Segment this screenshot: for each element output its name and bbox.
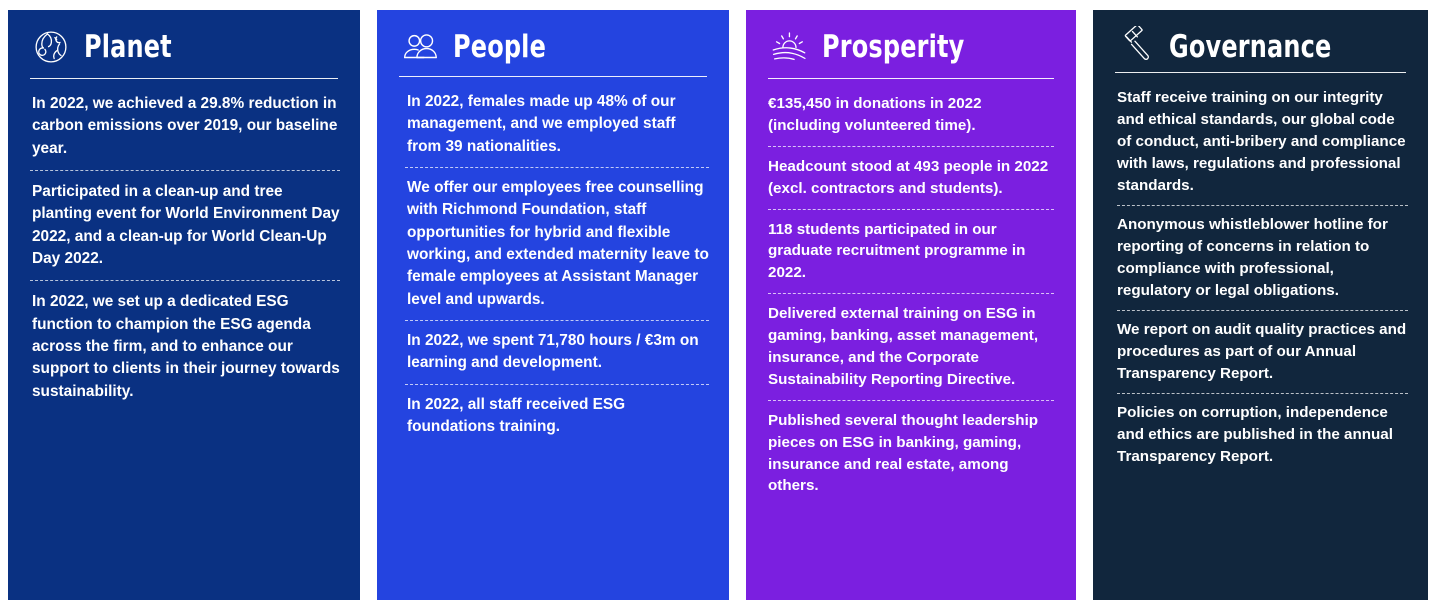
sunrise-field-icon <box>768 26 810 68</box>
stat-divider <box>768 400 1054 401</box>
header-rule-planet <box>30 78 338 79</box>
stat-item: Headcount stood at 493 people in 2022 (e… <box>762 156 1060 200</box>
stat-divider <box>768 209 1054 210</box>
card-title-governance: Governance <box>1169 32 1331 63</box>
card-header-governance: Governance <box>1109 26 1412 68</box>
stat-divider <box>405 384 709 385</box>
stats-list-people: In 2022, females made up 48% of our mana… <box>393 91 713 592</box>
stat-item: Published several thought leadership pie… <box>762 410 1060 498</box>
stat-item: Anonymous whistleblower hotline for repo… <box>1109 214 1412 302</box>
stats-list-planet: In 2022, we achieved a 29.8% reduction i… <box>24 93 344 592</box>
esg-highlights-board: Planet In 2022, we achieved a 29.8% redu… <box>0 0 1433 612</box>
card-title-people: People <box>453 32 546 63</box>
card-title-prosperity: Prosperity <box>822 32 964 63</box>
stat-item: Delivered external training on ESG in ga… <box>762 303 1060 391</box>
header-rule-prosperity <box>768 78 1054 79</box>
header-rule-governance <box>1115 72 1406 73</box>
stat-divider <box>1117 393 1408 394</box>
stat-item: In 2022, females made up 48% of our mana… <box>393 91 713 158</box>
stat-item: In 2022, all staff received ESG foundati… <box>393 394 713 439</box>
card-prosperity: Prosperity €135,450 in donations in 2022… <box>746 10 1076 600</box>
card-header-planet: Planet <box>24 26 344 68</box>
stat-item: €135,450 in donations in 2022 (including… <box>762 93 1060 137</box>
stat-divider <box>768 146 1054 147</box>
stat-item: In 2022, we achieved a 29.8% reduction i… <box>24 93 344 160</box>
stat-divider <box>1117 205 1408 206</box>
header-rule-people <box>399 76 707 77</box>
stat-divider <box>30 170 340 171</box>
gavel-icon <box>1115 26 1157 68</box>
stat-divider <box>30 280 340 281</box>
stat-item: In 2022, we set up a dedicated ESG funct… <box>24 291 344 403</box>
globe-leaf-icon <box>30 26 72 68</box>
card-governance: Governance Staff receive training on our… <box>1093 10 1428 600</box>
card-header-prosperity: Prosperity <box>762 26 1060 68</box>
stat-divider <box>768 293 1054 294</box>
stats-list-governance: Staff receive training on our integrity … <box>1109 87 1412 592</box>
stat-divider <box>405 320 709 321</box>
card-planet: Planet In 2022, we achieved a 29.8% redu… <box>8 10 360 600</box>
card-people: People In 2022, females made up 48% of o… <box>377 10 729 600</box>
stat-item: Policies on corruption, independence and… <box>1109 402 1412 468</box>
stat-item: Participated in a clean-up and tree plan… <box>24 181 344 270</box>
stats-list-prosperity: €135,450 in donations in 2022 (including… <box>762 93 1060 592</box>
stat-item: 118 students participated in our graduat… <box>762 219 1060 285</box>
stat-divider <box>405 167 709 168</box>
stat-item: We report on audit quality practices and… <box>1109 319 1412 385</box>
stat-divider <box>1117 310 1408 311</box>
two-people-icon <box>399 26 441 68</box>
stat-item: In 2022, we spent 71,780 hours / €3m on … <box>393 330 713 375</box>
stat-item: We offer our employees free counselling … <box>393 177 713 311</box>
stat-item: Staff receive training on our integrity … <box>1109 87 1412 197</box>
card-header-people: People <box>393 26 713 68</box>
card-title-planet: Planet <box>84 32 172 63</box>
